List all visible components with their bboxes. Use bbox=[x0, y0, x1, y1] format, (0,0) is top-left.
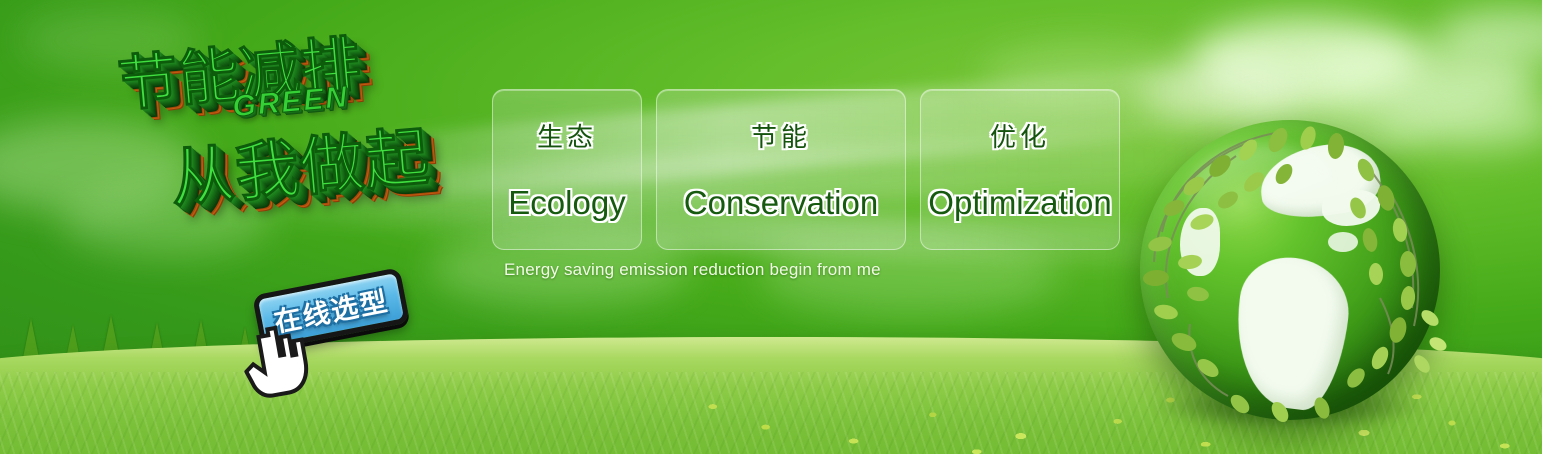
globe-sphere bbox=[1140, 120, 1440, 420]
cloud-decoration bbox=[1140, 60, 1310, 126]
headline-line-2: 从我做起 bbox=[166, 106, 433, 220]
feature-card-cn-label: 生态 bbox=[537, 117, 597, 154]
eco-promo-banner: 节能减排 GREEN 从我做起 在线选型 生态 Ecology 节能 Conse… bbox=[0, 0, 1542, 454]
continent-south-america bbox=[1227, 252, 1354, 414]
headline-3d-title: 节能减排 GREEN 从我做起 bbox=[98, 3, 517, 267]
feature-card-en-label: Conservation bbox=[684, 184, 878, 222]
globe-highlight bbox=[1188, 144, 1344, 246]
online-selection-button[interactable]: 在线选型 bbox=[252, 267, 410, 351]
feature-card-en-label: Ecology bbox=[508, 184, 625, 222]
green-leaf-globe-graphic bbox=[1140, 120, 1440, 420]
cloud-decoration bbox=[1300, 44, 1540, 118]
feature-card-en-label: Optimization bbox=[928, 184, 1111, 222]
cloud-decoration bbox=[1190, 18, 1420, 104]
online-selection-button-label: 在线选型 bbox=[270, 279, 391, 339]
banner-tagline: Energy saving emission reduction begin f… bbox=[504, 260, 881, 280]
continent-island bbox=[1328, 232, 1358, 252]
feature-card-cn-label: 节能 bbox=[751, 117, 811, 154]
feature-card-list: 生态 Ecology 节能 Conservation 优化 Optimizati… bbox=[492, 89, 1120, 250]
feature-card-conservation[interactable]: 节能 Conservation bbox=[656, 89, 906, 250]
feature-card-cn-label: 优化 bbox=[990, 117, 1050, 154]
feature-card-ecology[interactable]: 生态 Ecology bbox=[492, 89, 642, 250]
feature-card-optimization[interactable]: 优化 Optimization bbox=[920, 89, 1120, 250]
cloud-decoration bbox=[1436, 8, 1542, 62]
